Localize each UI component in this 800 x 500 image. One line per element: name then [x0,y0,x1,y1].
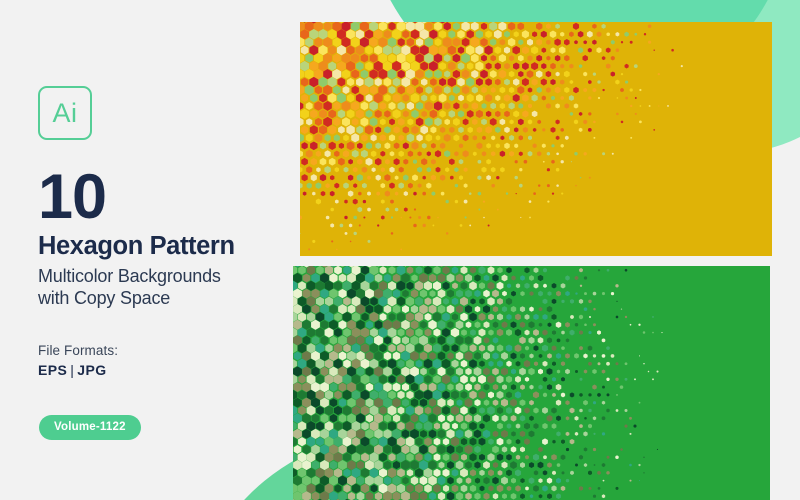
poster-canvas: Ai 10 Hexagon Pattern Multicolor Backgro… [0,0,800,500]
file-format-separator: | [67,362,77,378]
yellow-hexagon-pattern [300,22,772,256]
green-hexagon-pattern [293,266,770,500]
file-format-eps: EPS [38,362,67,378]
file-format-jpg: JPG [77,362,106,378]
adobe-illustrator-badge: Ai [38,86,92,140]
green-hexagon-preview[interactable] [293,266,770,500]
adobe-illustrator-badge-label: Ai [52,100,77,127]
yellow-hexagon-preview[interactable] [300,22,772,256]
info-column: Ai 10 Hexagon Pattern Multicolor Backgro… [38,0,288,500]
page-subtitle-line-2: with Copy Space [38,287,221,309]
page-title: Hexagon Pattern [38,234,235,260]
file-formats-values: EPS|JPG [38,362,106,378]
page-subtitle: Multicolor Backgrounds with Copy Space [38,265,221,310]
item-count: 10 [38,166,106,229]
page-subtitle-line-1: Multicolor Backgrounds [38,265,221,287]
file-formats-label: File Formats: [38,343,118,358]
volume-badge: Volume-1122 [39,415,141,440]
